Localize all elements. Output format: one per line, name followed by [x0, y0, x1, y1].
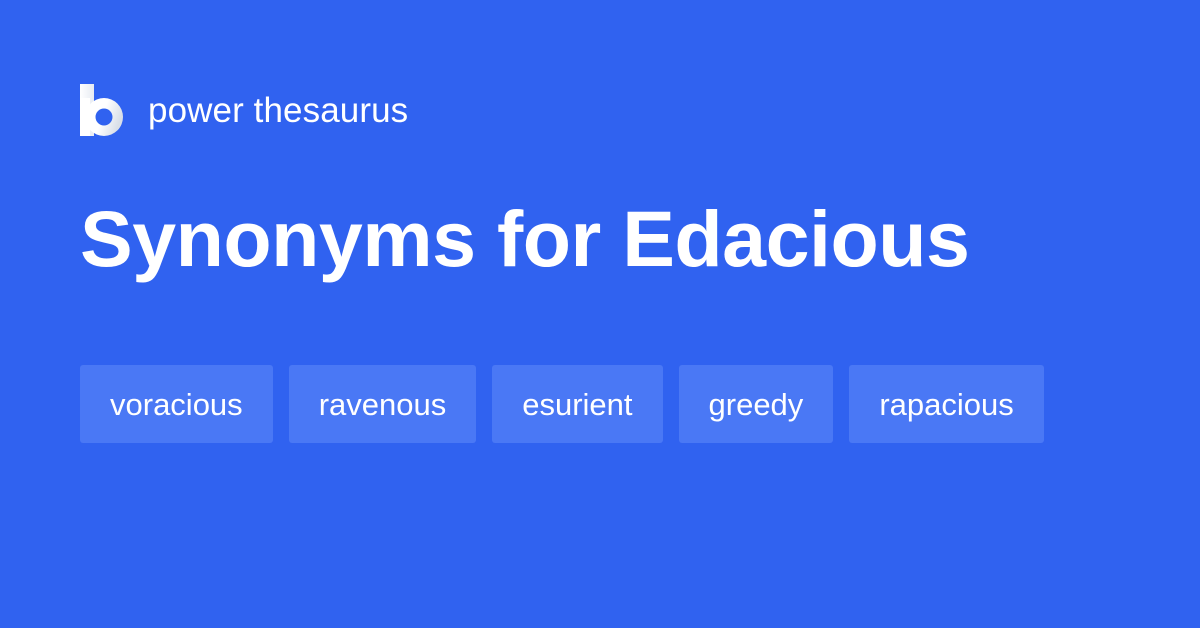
synonym-tag[interactable]: voracious	[80, 365, 273, 443]
page-title: Synonyms for Edacious	[80, 199, 1140, 278]
synonym-tag[interactable]: ravenous	[289, 365, 477, 443]
synonym-tag[interactable]: rapacious	[849, 365, 1043, 443]
power-thesaurus-b-logo-icon	[80, 84, 126, 136]
synonym-tag[interactable]: esurient	[492, 365, 662, 443]
synonym-tag[interactable]: greedy	[679, 365, 834, 443]
share-card: power thesaurus Synonyms for Edacious vo…	[0, 0, 1200, 628]
brand-name: power thesaurus	[148, 93, 408, 128]
brand-header[interactable]: power thesaurus	[80, 82, 408, 138]
synonym-tag-list: voracious ravenous esurient greedy rapac…	[80, 365, 1140, 443]
